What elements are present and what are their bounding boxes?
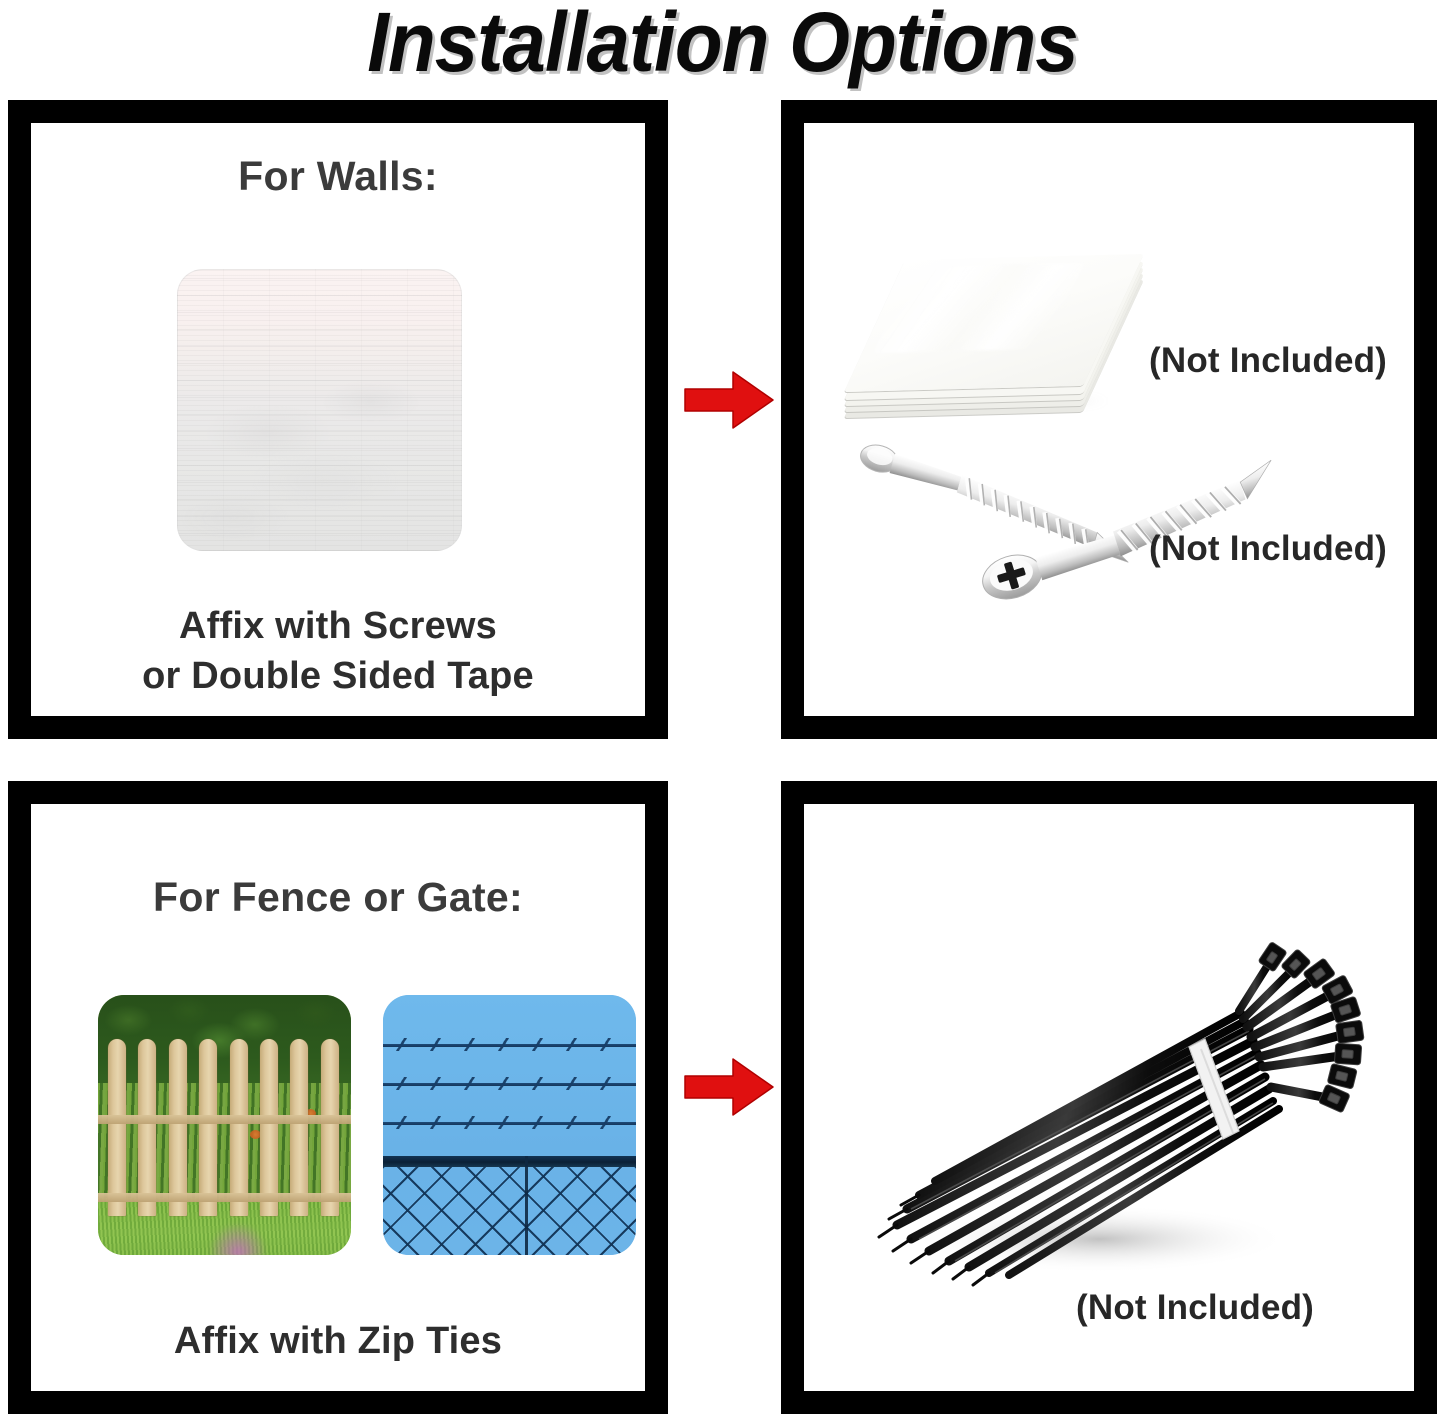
panel-for-walls-content: For Walls: Affix with Screws or Double S… [31, 123, 645, 716]
fence-picket [108, 1039, 126, 1216]
black-zip-ties-bundle-image [849, 909, 1369, 1329]
garden-path [209, 1223, 267, 1255]
chain-link-mesh [383, 1167, 636, 1255]
double-sided-tape-stack-image [876, 243, 1136, 423]
for-walls-caption-line1: Affix with Screws [31, 601, 645, 651]
screws-not-included-label: (Not Included) [1149, 529, 1387, 569]
fence-picket [230, 1039, 248, 1216]
fence-top-rail [383, 1156, 636, 1167]
red-right-arrow-top [683, 369, 775, 431]
fence-rail [98, 1115, 351, 1124]
panel-for-walls: For Walls: Affix with Screws or Double S… [8, 100, 668, 739]
fence-rail [98, 1193, 351, 1202]
fence-picket [260, 1039, 278, 1216]
fence-picket [138, 1039, 156, 1216]
chain-link-barbed-wire-fence-photo [383, 995, 636, 1255]
barbed-wire-barbs [383, 1077, 636, 1090]
panel-screws-and-tape-content: (Not Included) [804, 123, 1414, 716]
panel-screws-and-tape: (Not Included) [781, 100, 1437, 739]
red-right-arrow-bottom [683, 1056, 775, 1118]
panel-for-fence-or-gate: For Fence or Gate: [8, 781, 668, 1414]
barbed-wire-barbs [383, 1116, 636, 1129]
for-walls-caption-line2: or Double Sided Tape [31, 651, 645, 701]
for-fence-caption: Affix with Zip Ties [31, 1316, 645, 1366]
page-title: Installation Options [51, 0, 1395, 90]
wooden-picket-fence-photo [98, 995, 351, 1255]
panel-zip-ties: (Not Included) [781, 781, 1437, 1414]
fence-picket [169, 1039, 187, 1216]
fence-picket [290, 1039, 308, 1216]
for-walls-heading: For Walls: [31, 153, 645, 200]
zip-ties-not-included-label: (Not Included) [1076, 1288, 1314, 1328]
fence-post [525, 1156, 528, 1255]
panel-for-fence-or-gate-content: For Fence or Gate: [31, 804, 645, 1391]
for-fence-or-gate-heading: For Fence or Gate: [31, 874, 645, 921]
wall-blotch-layer [177, 269, 462, 551]
tape-not-included-label: (Not Included) [1149, 341, 1387, 381]
panel-zip-ties-content: (Not Included) [804, 804, 1414, 1391]
fence-picket [321, 1039, 339, 1216]
barbed-wire-barbs [383, 1038, 636, 1051]
white-brick-wall-swatch-image [177, 269, 462, 551]
fence-picket [199, 1039, 217, 1216]
